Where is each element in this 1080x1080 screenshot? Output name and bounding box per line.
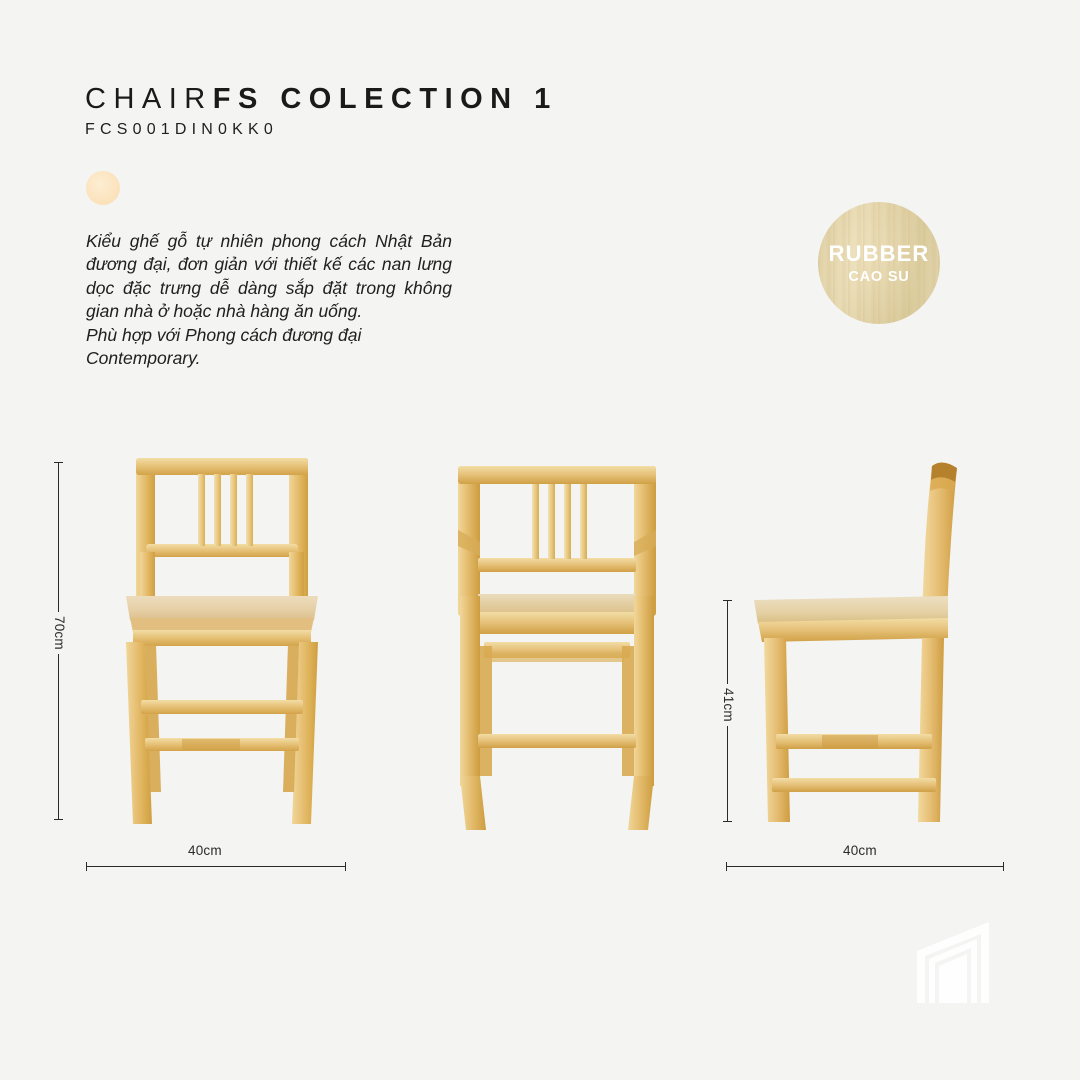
- dimension-cap-right-front: [345, 862, 346, 871]
- dimension-line-width-front: [86, 866, 346, 867]
- chair-side-view: [742, 448, 988, 834]
- chair-back-view: [444, 446, 680, 834]
- brand-logo-watermark-icon: [915, 920, 1010, 1005]
- dimension-line-width-side: [726, 866, 1004, 867]
- description-paragraph-1: Kiểu ghế gỗ tự nhiên phong cách Nhật Bản…: [86, 230, 452, 324]
- product-spec-sheet: CHAIRFS COLECTION 1 FCS001DIN0KK0 Kiểu g…: [0, 0, 1080, 1080]
- page-title: CHAIRFS COLECTION 1 FCS001DIN0KK0: [85, 82, 558, 139]
- material-badge-title: RUBBER: [829, 241, 930, 267]
- dimension-cap-bottom: [54, 819, 63, 820]
- dimension-label-width-front: 40cm: [188, 843, 222, 858]
- product-sku: FCS001DIN0KK0: [85, 121, 558, 139]
- material-badge: RUBBER CAO SU: [818, 202, 940, 324]
- wood-color-swatch-icon: [86, 171, 120, 205]
- dimension-label-height: 70cm: [52, 612, 67, 654]
- product-description: Kiểu ghế gỗ tự nhiên phong cách Nhật Bản…: [86, 230, 452, 370]
- dimension-cap-left-side: [726, 862, 727, 871]
- title-bold-part: FS COLECTION 1: [213, 83, 558, 115]
- description-paragraph-2: Phù hợp với Phong cách đương đại Contemp…: [86, 324, 452, 371]
- title-row: CHAIRFS COLECTION 1: [85, 82, 558, 116]
- title-light-part: CHAIR: [85, 83, 213, 115]
- dimension-label-width-side: 40cm: [843, 843, 877, 858]
- dimension-label-seat-height: 41cm: [721, 684, 736, 726]
- dimension-cap-top: [54, 462, 63, 463]
- dimension-cap-right-side: [1003, 862, 1004, 871]
- material-badge-subtitle: CAO SU: [848, 268, 909, 286]
- dimension-cap-top-seat: [723, 600, 732, 601]
- chair-front-view: [104, 452, 340, 830]
- dimension-cap-left-front: [86, 862, 87, 871]
- dimension-cap-bottom-seat: [723, 821, 732, 822]
